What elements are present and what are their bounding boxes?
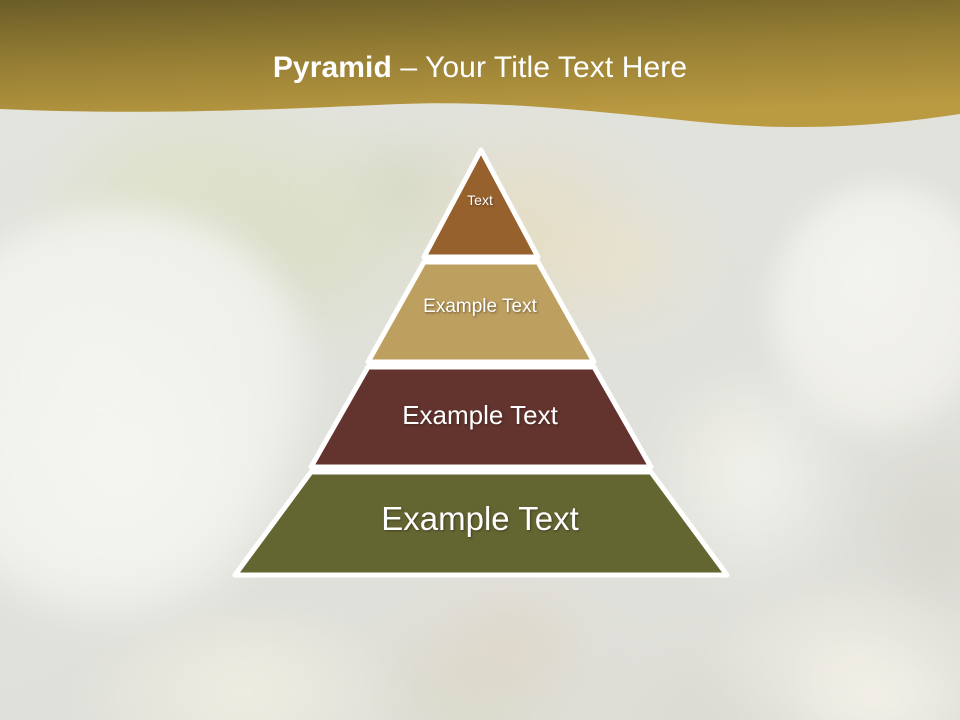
- page-title-rest: – Your Title Text Here: [392, 51, 687, 84]
- slide-canvas: Pyramid – Your Title Text Here Text Exam…: [0, 0, 960, 720]
- page-title-strong: Pyramid: [273, 51, 392, 84]
- page-title: Pyramid – Your Title Text Here: [0, 50, 960, 86]
- header-band: Pyramid – Your Title Text Here: [0, 0, 960, 150]
